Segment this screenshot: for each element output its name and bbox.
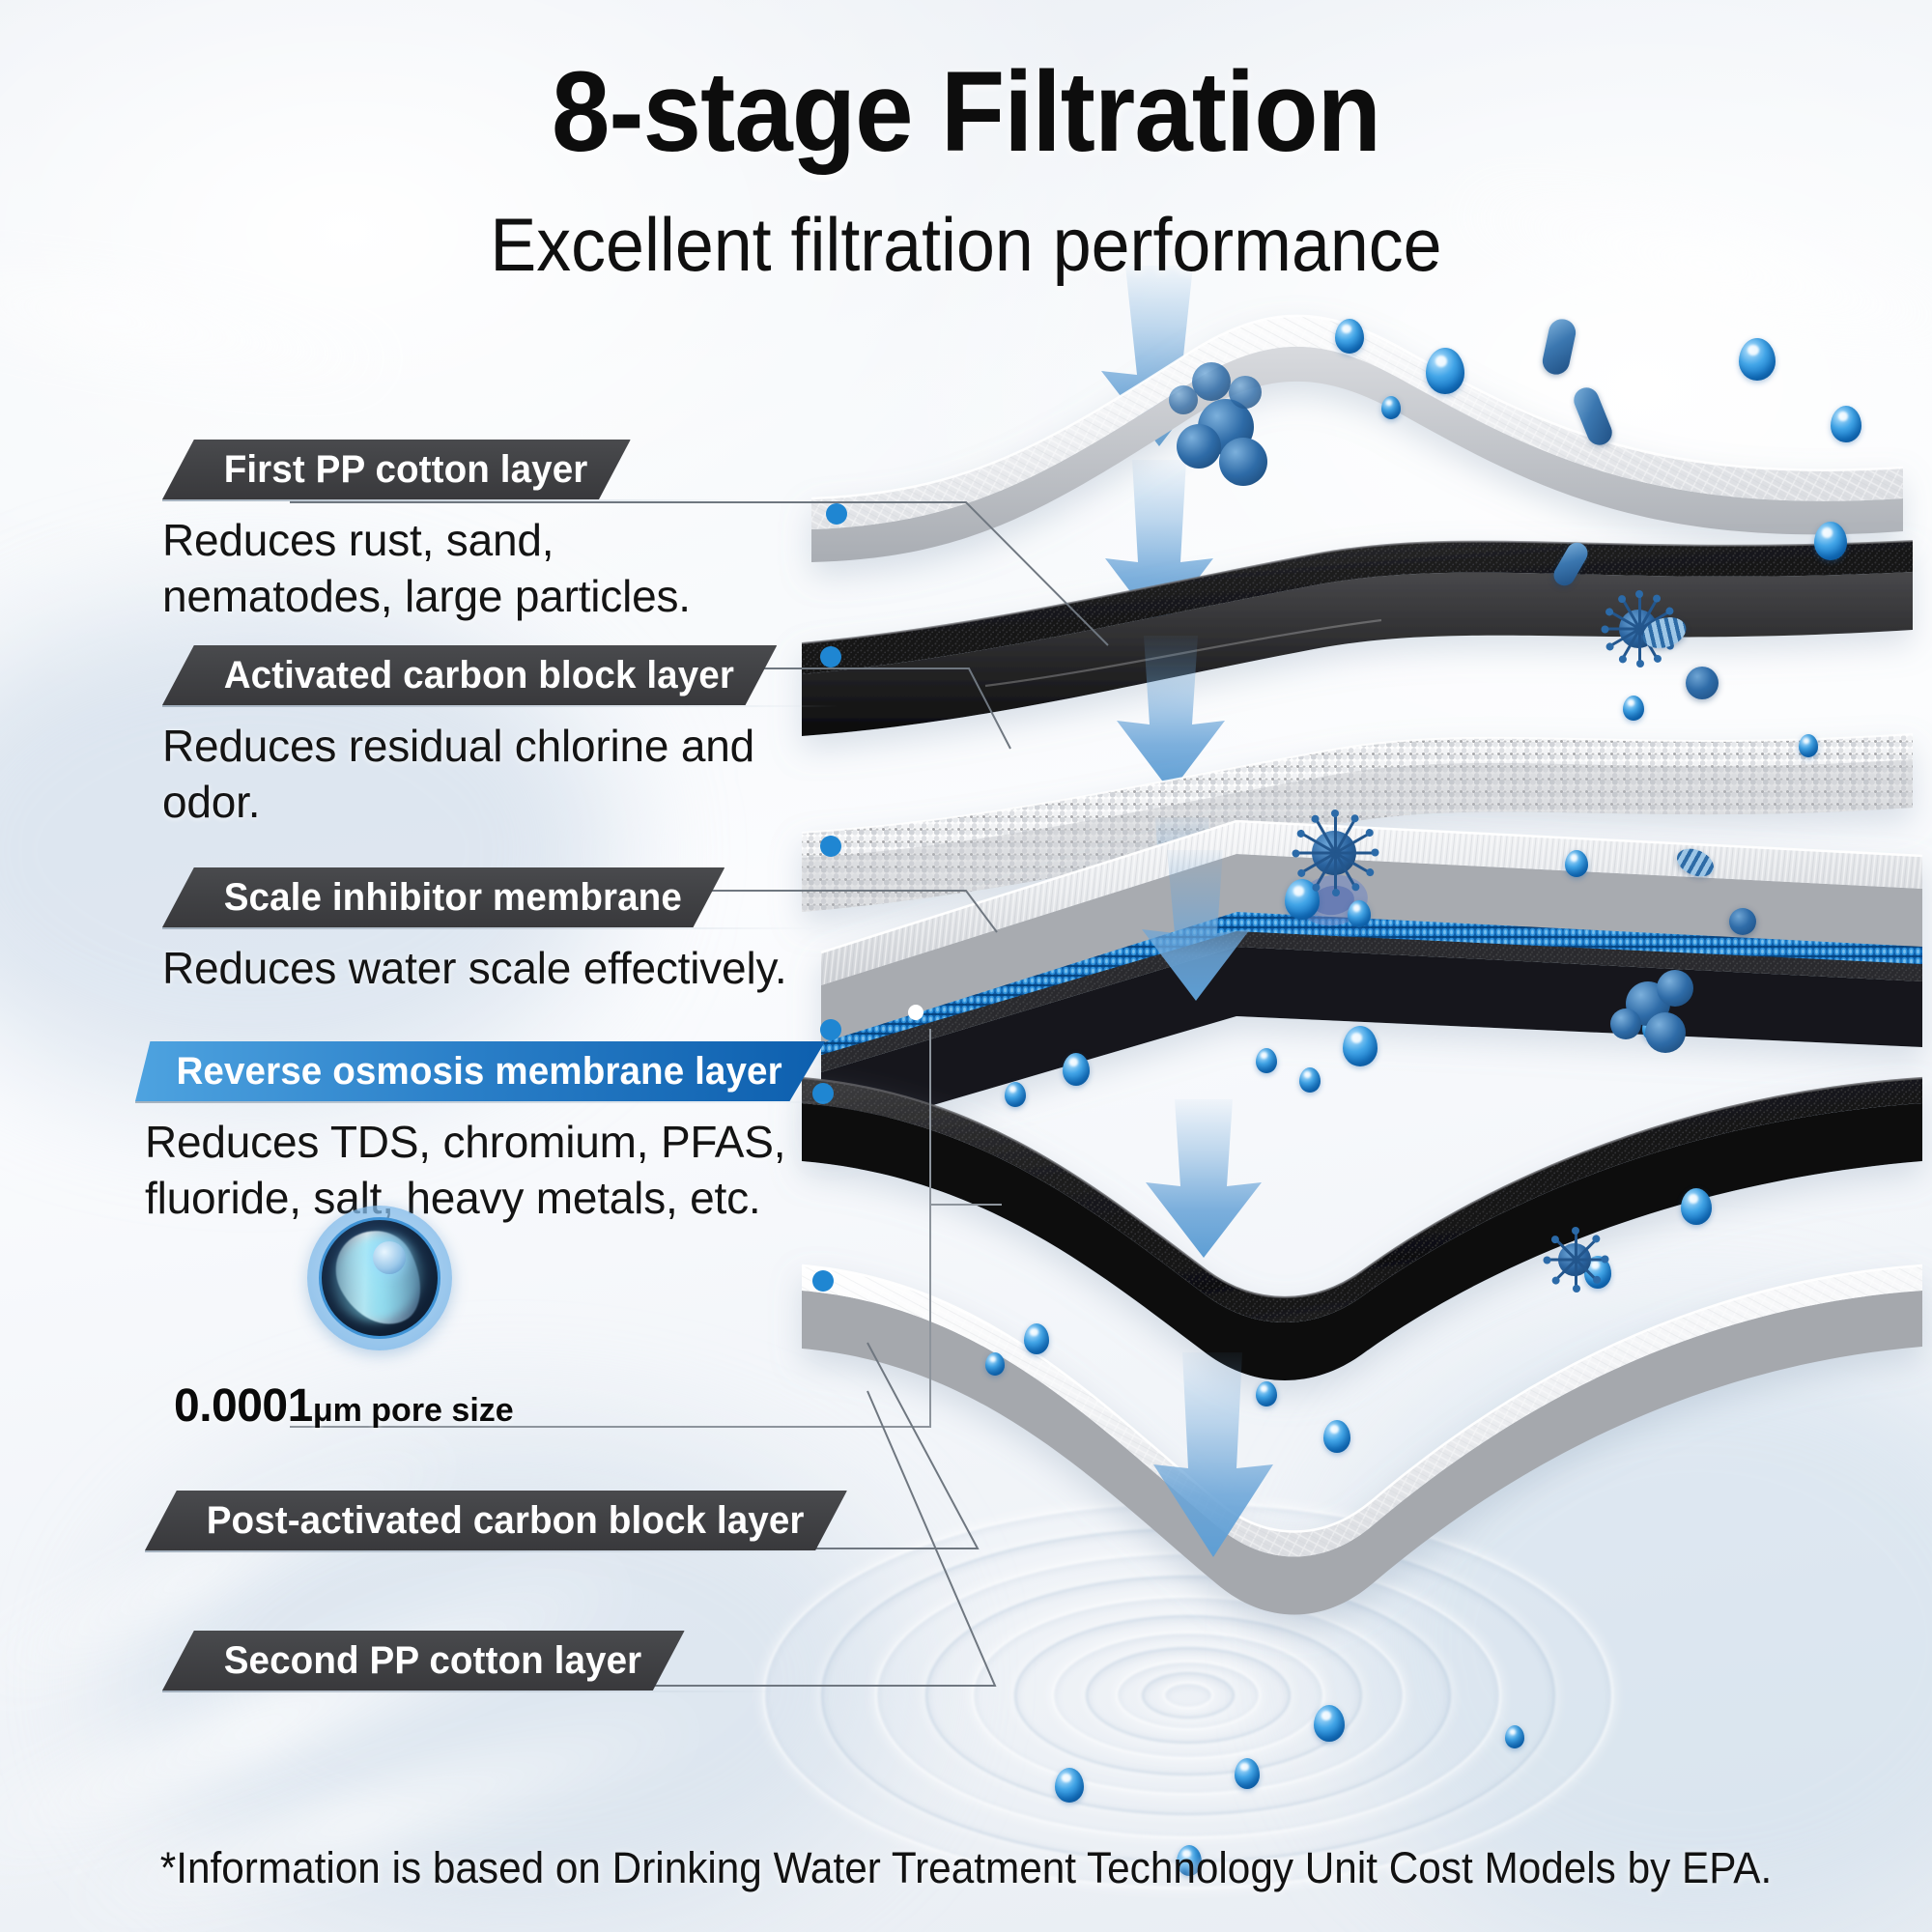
- description-scale-inhibitor-membrane: Reduces water scale effectively.: [162, 941, 819, 997]
- banner-underline: [145, 1550, 860, 1552]
- page-subtitle: Excellent filtration performance: [77, 201, 1855, 289]
- pore-size-label: 0.0001μm pore size: [174, 1379, 514, 1433]
- description-first-pp-cotton: Reduces rust, sand, nematodes, large par…: [162, 513, 761, 625]
- banner-post-activated-carbon-block[interactable]: Post-activated carbon block layer: [145, 1491, 847, 1550]
- badge-ring: [307, 1206, 452, 1350]
- filter-stack-illustration: [927, 270, 1932, 1777]
- callout-first-pp-cotton: First PP cotton layer Reduces rust, sand…: [162, 440, 761, 625]
- pore-size-unit: μm pore size: [313, 1392, 514, 1429]
- badge-glow: [319, 1218, 439, 1338]
- banner-underline: [162, 1690, 781, 1692]
- banner-underline: [162, 499, 761, 501]
- banner-underline: [162, 705, 838, 707]
- connector-dot-1: [826, 503, 847, 525]
- banner-activated-carbon-block[interactable]: Activated carbon block layer: [162, 645, 777, 705]
- description-activated-carbon-block: Reduces residual chlorine and odor.: [162, 719, 838, 831]
- pore-size-badge: [307, 1206, 452, 1350]
- connector-dot-4: [820, 1019, 841, 1040]
- flow-arrow-5: [1146, 1099, 1262, 1258]
- ro-membrane-roll-icon: [319, 1217, 440, 1339]
- banner-first-pp-cotton[interactable]: First PP cotton layer: [162, 440, 631, 499]
- banner-scale-inhibitor-membrane[interactable]: Scale inhibitor membrane: [162, 867, 724, 927]
- description-reverse-osmosis-membrane: Reduces TDS, chromium, PFAS, fluoride, s…: [135, 1115, 850, 1227]
- banner-underline: [162, 927, 819, 929]
- layer-first-pp-cotton: [811, 316, 1903, 562]
- footnote: *Information is based on Drinking Water …: [58, 1843, 1874, 1893]
- banner-reverse-osmosis-membrane[interactable]: Reverse osmosis membrane layer: [135, 1041, 825, 1101]
- connector-dot-6: [812, 1270, 834, 1292]
- pore-size-value: 0.0001: [174, 1380, 313, 1432]
- callout-scale-inhibitor-membrane: Scale inhibitor membrane Reduces water s…: [162, 867, 819, 997]
- banner-underline: [135, 1101, 850, 1103]
- connector-dot-3: [820, 836, 841, 857]
- callout-post-activated-carbon-block: Post-activated carbon block layer: [145, 1491, 860, 1550]
- banner-second-pp-cotton[interactable]: Second PP cotton layer: [162, 1631, 685, 1690]
- callout-activated-carbon-block: Activated carbon block layer Reduces res…: [162, 645, 838, 831]
- page-title: 8-stage Filtration: [77, 46, 1855, 178]
- callout-reverse-osmosis-membrane: Reverse osmosis membrane layer Reduces T…: [135, 1041, 850, 1227]
- callout-second-pp-cotton: Second PP cotton layer: [162, 1631, 781, 1690]
- layer-activated-carbon-block: [802, 541, 1913, 736]
